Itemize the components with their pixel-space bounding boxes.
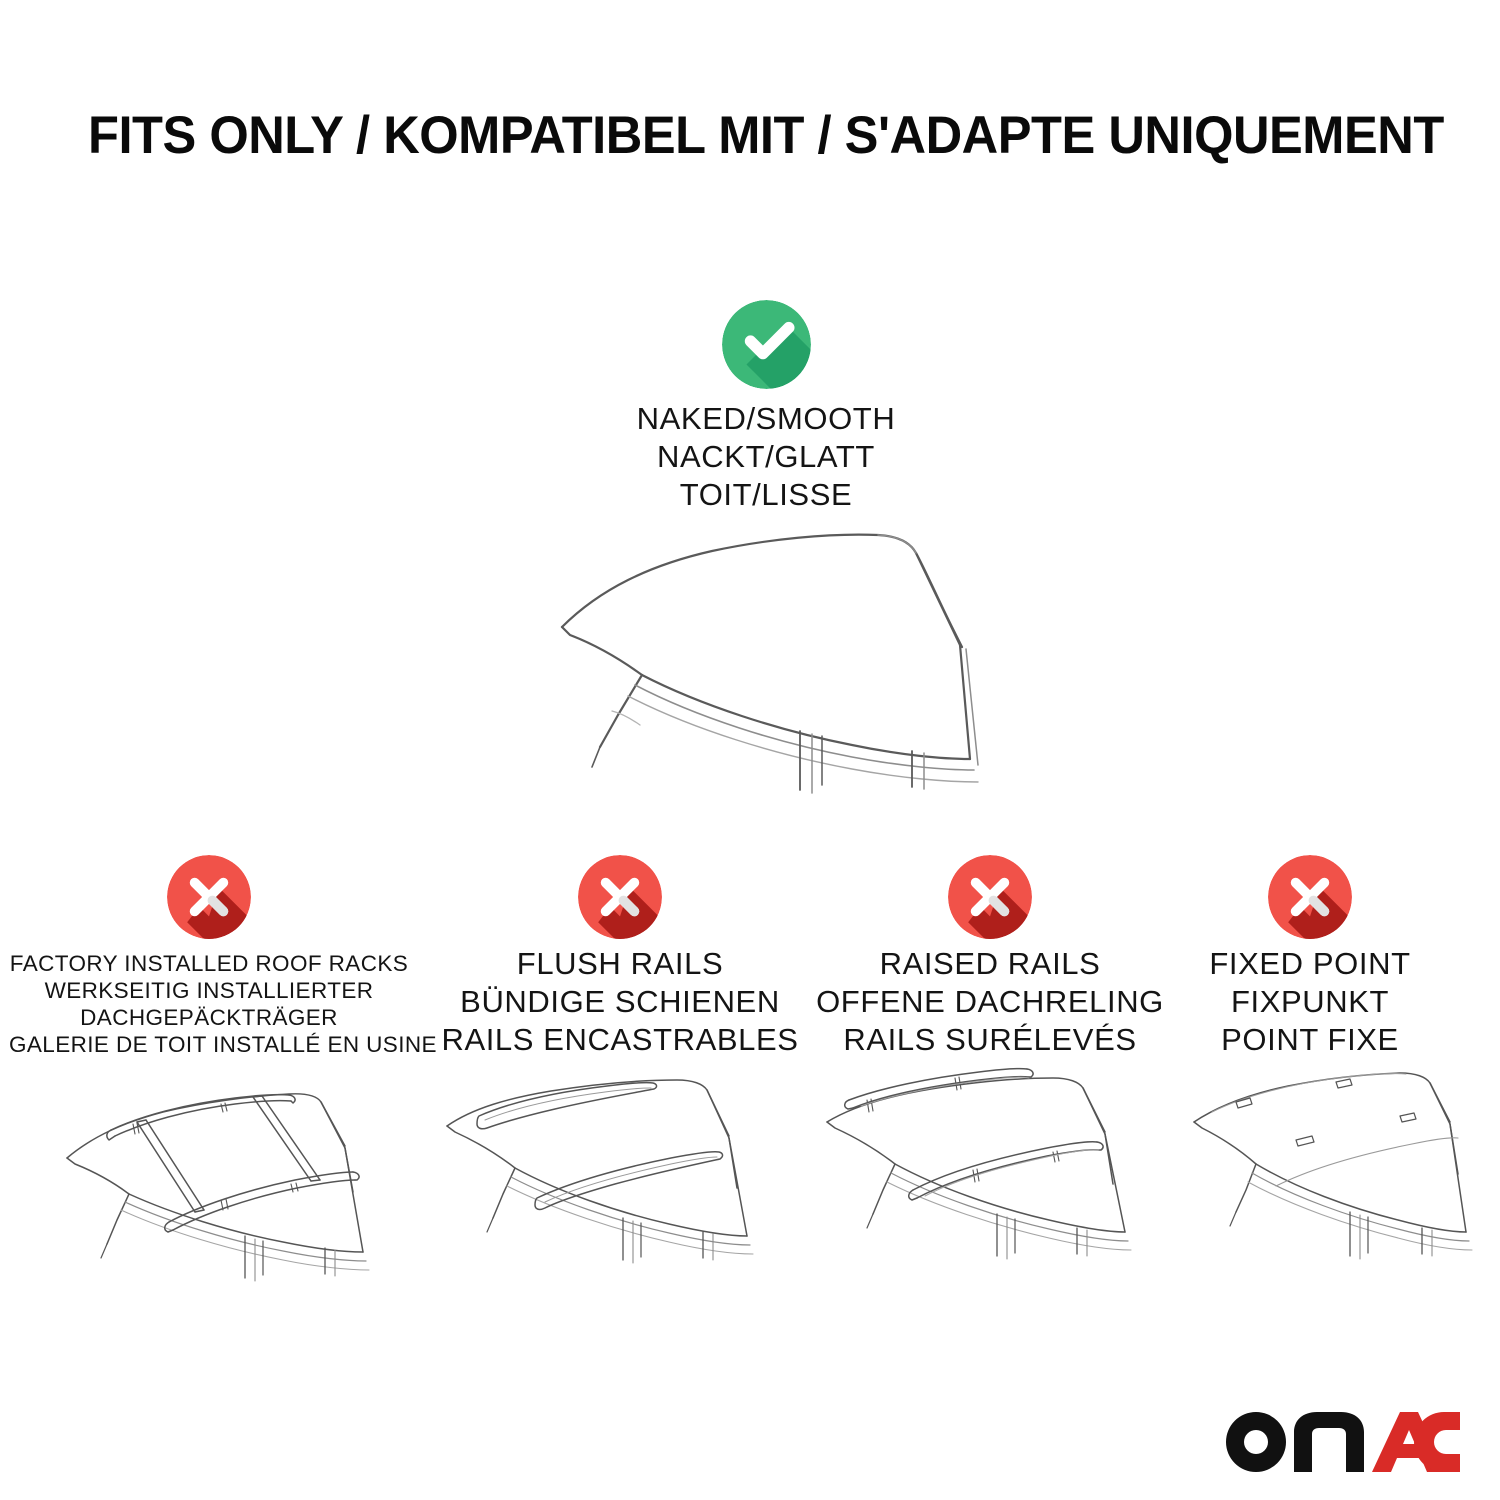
x-circle-icon (948, 855, 1032, 939)
car-roof-with-fixed-points-illustration (1178, 1060, 1500, 1310)
label-line-3: POINT FIXE (1120, 1021, 1500, 1059)
fitment-infographic: FITS ONLY / KOMPATIBEL MIT / S'ADAPTE UN… (0, 0, 1500, 1500)
label-line-3: DACHGEPÄCKTRÄGER (9, 1004, 409, 1031)
incompatible-label-fixed-point: FIXED POINT FIXPUNKT POINT FIXE (1120, 945, 1500, 1059)
compatible-label-line-3: TOIT/LISSE (486, 476, 1046, 514)
label-line-1: FIXED POINT (1120, 945, 1500, 983)
omac-logo (1222, 1408, 1462, 1480)
logo-letter-o (1226, 1412, 1286, 1472)
logo-letter-m (1294, 1412, 1364, 1472)
x-circle-icon (578, 855, 662, 939)
x-circle-icon (167, 855, 251, 939)
compatible-label-line-1: NAKED/SMOOTH (486, 400, 1046, 438)
page-title: FITS ONLY / KOMPATIBEL MIT / S'ADAPTE UN… (88, 108, 1358, 164)
label-line-2: FIXPUNKT (1120, 983, 1500, 1021)
label-line-1: FACTORY INSTALLED ROOF RACKS (9, 950, 409, 977)
label-line-4: GALERIE DE TOIT INSTALLÉ EN USINE (9, 1031, 409, 1058)
incompatible-label-factory-installed-roof-racks: FACTORY INSTALLED ROOF RACKS WERKSEITIG … (9, 950, 409, 1058)
car-roof-with-raised-rails-illustration (805, 1060, 1205, 1310)
check-circle-icon (722, 300, 811, 389)
car-roof-with-flush-rails-illustration (425, 1060, 825, 1310)
car-roof-with-factory-rack-and-crossbars-illustration (45, 1060, 445, 1310)
label-line-2: WERKSEITIG INSTALLIERTER (9, 977, 409, 1004)
bare-smooth-car-roof-illustration (500, 515, 1020, 805)
compatible-label-line-2: NACKT/GLATT (486, 438, 1046, 476)
x-circle-icon (1268, 855, 1352, 939)
compatible-label: NAKED/SMOOTH NACKT/GLATT TOIT/LISSE (486, 400, 1046, 514)
